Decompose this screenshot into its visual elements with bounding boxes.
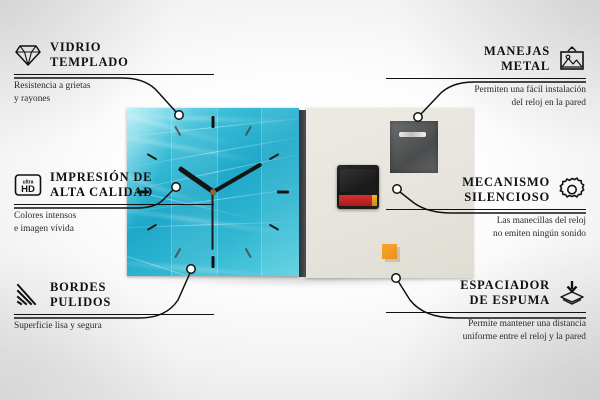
metal-hanger-plate — [390, 121, 438, 173]
callout-desc-line2: y rayones — [14, 93, 214, 105]
callout-mecanismo-silencioso: MECANISMO SILENCIOSO Las manecillas del … — [386, 175, 586, 240]
callout-desc-line2: no emiten ningún sonido — [386, 228, 586, 240]
callout-desc-line2: e imagen vívida — [14, 223, 214, 235]
callout-header: MANEJAS METAL — [386, 44, 586, 74]
callout-desc-line1: Superficie lisa y segura — [14, 320, 214, 332]
callout-title-line2: METAL — [484, 59, 550, 74]
feather-streak — [127, 238, 239, 276]
callout-impresion-alta-calidad: ultra HD IMPRESIÓN DE ALTA CALIDAD Color… — [14, 170, 214, 235]
callout-desc-line2: del reloj en la pared — [386, 97, 586, 109]
clock-tick — [212, 256, 215, 268]
callout-description: Las manecillas del reloj no emiten ningú… — [386, 215, 586, 240]
clock-tick — [269, 224, 280, 231]
ultra-hd-icon: ultra HD — [14, 171, 42, 199]
callout-desc-line1: Permite mantener una distancia — [386, 318, 586, 330]
callout-title-line1: MECANISMO — [462, 175, 550, 190]
clock-tick — [212, 116, 215, 128]
infographic-canvas: VIDRIO TEMPLADO Resistencia a grietas y … — [0, 0, 600, 400]
callout-description: Permite mantener una distancia uniforme … — [386, 318, 586, 343]
callout-header: VIDRIO TEMPLADO — [14, 40, 214, 70]
callout-description: Resistencia a grietas y rayones — [14, 80, 214, 105]
callout-bordes-pulidos: BORDES PULIDOS Superficie lisa y segura — [14, 280, 214, 333]
clock-tick — [269, 153, 280, 160]
feather-streak — [127, 258, 281, 276]
callout-desc-line1: Colores intensos — [14, 210, 214, 222]
callout-description: Colores intensos e imagen vívida — [14, 210, 214, 235]
polished-edges-icon — [14, 281, 42, 309]
foam-spacer — [382, 244, 397, 259]
callout-description: Permiten una fácil instalación del reloj… — [386, 84, 586, 109]
hanger-slot — [399, 132, 426, 137]
callout-rule — [386, 312, 586, 314]
callout-title: IMPRESIÓN DE ALTA CALIDAD — [50, 170, 153, 200]
gear-icon — [558, 176, 586, 204]
callout-title-line2: TEMPLADO — [50, 55, 129, 70]
callout-desc-line1: Resistencia a grietas — [14, 80, 214, 92]
callout-rule — [386, 209, 586, 211]
clock-tick — [245, 248, 252, 259]
callout-manejas-metal: MANEJAS METAL Permiten una fácil instala… — [386, 44, 586, 109]
clock-tick — [174, 248, 181, 259]
glass-pane — [217, 108, 262, 276]
callout-title-line1: ESPACIADOR — [460, 278, 550, 293]
callout-rule — [386, 78, 586, 80]
callout-title-line2: ALTA CALIDAD — [50, 185, 153, 200]
callout-title-line2: SILENCIOSO — [462, 190, 550, 205]
callout-desc-line2: uniforme entre el reloj y la pared — [386, 331, 586, 343]
clock-minute-hand — [212, 162, 262, 193]
callout-title: MECANISMO SILENCIOSO — [462, 175, 550, 205]
callout-description: Superficie lisa y segura — [14, 320, 214, 332]
callout-title: ESPACIADOR DE ESPUMA — [460, 278, 550, 308]
svg-text:HD: HD — [21, 184, 35, 195]
callout-vidrio-templado: VIDRIO TEMPLADO Resistencia a grietas y … — [14, 40, 214, 105]
mechanism-body — [340, 169, 376, 192]
feather-streak — [127, 108, 240, 148]
callout-title-line2: PULIDOS — [50, 295, 111, 310]
callout-espaciador-espuma: ESPACIADOR DE ESPUMA Permite mantener un… — [386, 278, 586, 343]
callout-title-line1: IMPRESIÓN DE — [50, 170, 153, 185]
callout-title-line1: MANEJAS — [484, 44, 550, 59]
hanging-frame-icon — [558, 45, 586, 73]
callout-desc-line1: Las manecillas del reloj — [386, 215, 586, 227]
callout-header: ultra HD IMPRESIÓN DE ALTA CALIDAD — [14, 170, 214, 200]
callout-title: VIDRIO TEMPLADO — [50, 40, 129, 70]
callout-title-line1: VIDRIO — [50, 40, 129, 55]
callout-desc-line1: Permiten una fácil instalación — [386, 84, 586, 96]
clock-tick — [277, 191, 289, 194]
callout-header: ESPACIADOR DE ESPUMA — [386, 278, 586, 308]
feather-streak — [127, 135, 299, 169]
callout-header: MECANISMO SILENCIOSO — [386, 175, 586, 205]
diamond-icon — [14, 41, 42, 69]
clock-tick — [147, 153, 158, 160]
spacer-layers-icon — [558, 279, 586, 307]
callout-rule — [14, 314, 214, 316]
callout-title: BORDES PULIDOS — [50, 280, 111, 310]
callout-rule — [14, 204, 214, 206]
battery-terminal — [372, 195, 377, 206]
glass-edge — [299, 110, 306, 277]
callout-rule — [14, 74, 214, 76]
callout-header: BORDES PULIDOS — [14, 280, 214, 310]
callout-title-line1: BORDES — [50, 280, 111, 295]
clock-mechanism — [337, 165, 379, 209]
callout-title: MANEJAS METAL — [484, 44, 550, 74]
clock-tick — [174, 126, 181, 137]
clock-tick — [245, 126, 252, 137]
callout-title-line2: DE ESPUMA — [460, 293, 550, 308]
